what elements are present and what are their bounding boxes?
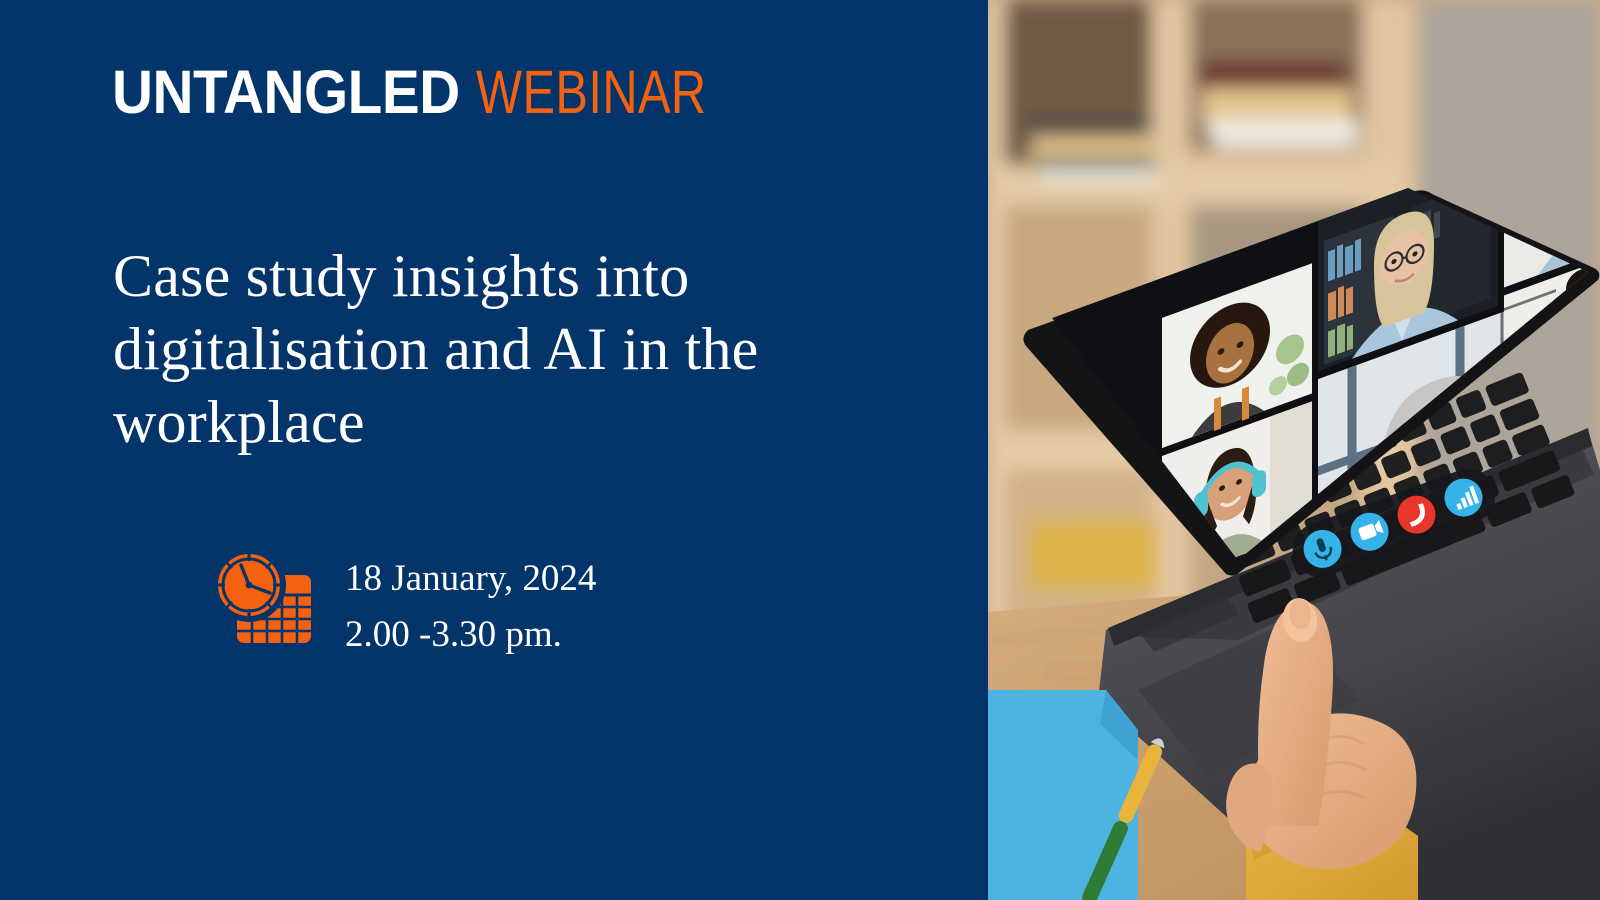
logo-webinar-text: WEBINAR: [476, 62, 707, 123]
hero-photo-illustration: [988, 0, 1600, 900]
brand-logo: UNTANGLED WEBINAR: [112, 62, 764, 123]
event-datetime-block: 18 January, 2024 2.00 -3.30 pm.: [207, 545, 596, 662]
event-time: 2.00 -3.30 pm.: [345, 607, 596, 663]
hero-photo: [988, 0, 1600, 900]
calendar-clock-icon: [207, 545, 315, 647]
webinar-promo-banner: UNTANGLED WEBINAR Case study insights in…: [0, 0, 1600, 900]
event-datetime-text: 18 January, 2024 2.00 -3.30 pm.: [345, 545, 596, 662]
logo-untangled-text: UNTANGLED: [112, 62, 460, 123]
left-content-panel: UNTANGLED WEBINAR Case study insights in…: [0, 0, 988, 900]
event-date: 18 January, 2024: [345, 551, 596, 607]
headline-title: Case study insights into digitalisation …: [113, 240, 873, 460]
